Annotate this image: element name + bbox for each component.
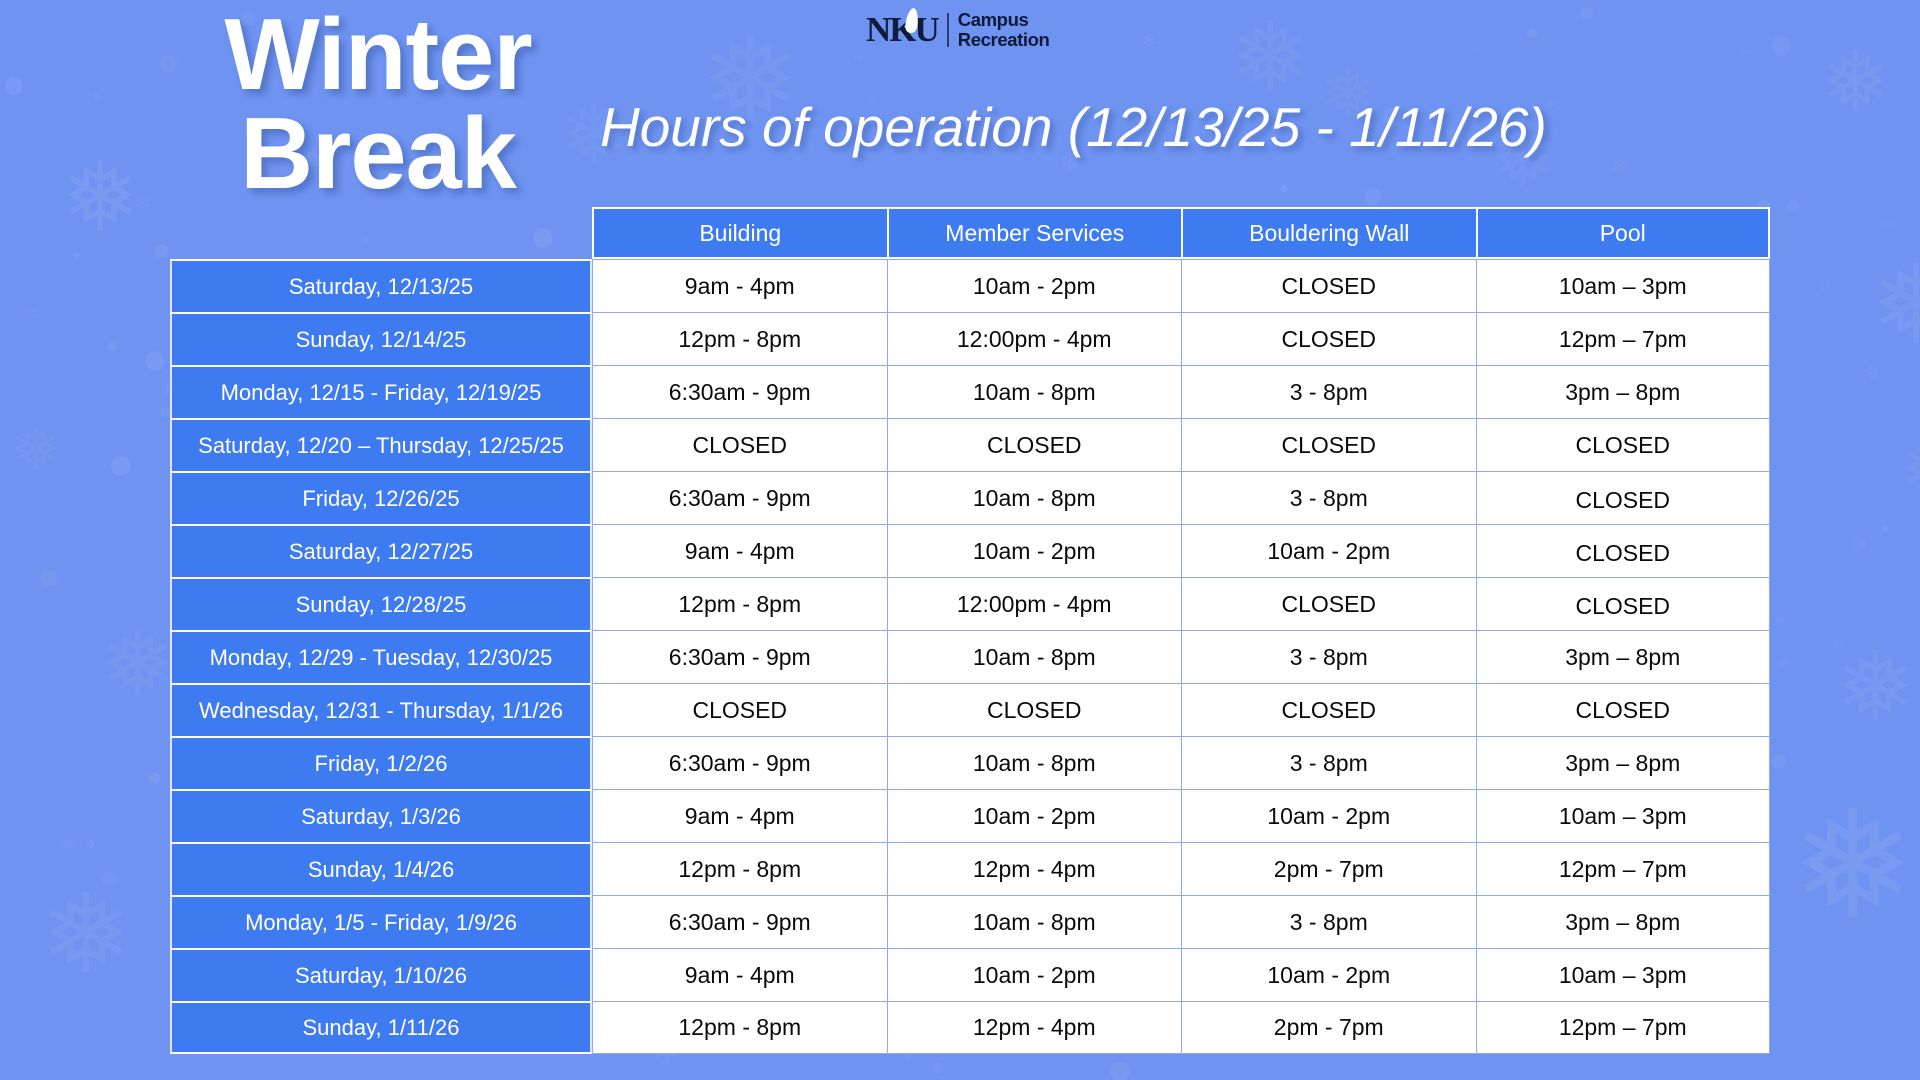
snow-dot-icon [145, 351, 165, 371]
hours-cell-building: 6:30am - 9pm [592, 895, 887, 948]
hours-cell-pool: 10am – 3pm [1476, 789, 1771, 842]
snowflake-icon: ❅ [1820, 40, 1890, 124]
hours-cell-building: 9am - 4pm [592, 948, 887, 1001]
snow-dot-icon [1827, 833, 1832, 838]
snow-dot-icon [1280, 185, 1287, 192]
date-range-cell: Monday, 12/29 - Tuesday, 12/30/25 [170, 630, 592, 683]
page-title: Winter Break [168, 6, 588, 204]
hours-cell-bouldering-wall: 2pm - 7pm [1181, 1001, 1476, 1054]
hours-cell-pool: 12pm – 7pm [1476, 312, 1771, 365]
brand-name: Campus Recreation [958, 10, 1050, 49]
nku-campus-recreation-logo: NKU Campus Recreation [866, 10, 1049, 50]
table-corner-cell [170, 207, 592, 259]
hours-cell-building: 9am - 4pm [592, 789, 887, 842]
snow-dot-icon [1771, 36, 1791, 56]
snowflake-icon: ❅ [1790, 790, 1916, 940]
hours-cell-building: 9am - 4pm [592, 259, 887, 312]
nku-letters: NKU [866, 10, 938, 49]
hours-cell-bouldering-wall: CLOSED [1181, 683, 1476, 736]
hours-cell-building: 9am - 4pm [592, 524, 887, 577]
date-range-cell: Sunday, 1/11/26 [170, 1001, 592, 1054]
date-range-cell: Saturday, 12/27/25 [170, 524, 592, 577]
hours-cell-member-services: 10am - 2pm [887, 948, 1182, 1001]
hours-cell-pool: 3pm – 8pm [1476, 365, 1771, 418]
hours-cell-bouldering-wall: 10am - 2pm [1181, 948, 1476, 1001]
date-range-cell: Monday, 12/15 - Friday, 12/19/25 [170, 365, 592, 418]
snow-dot-icon [40, 570, 56, 586]
snowflake-icon: ❄ [853, 53, 864, 66]
hours-cell-building: 12pm - 8pm [592, 577, 887, 630]
table-row: Monday, 1/5 - Friday, 1/9/266:30am - 9pm… [170, 895, 1770, 948]
hours-cell-bouldering-wall: CLOSED [1181, 577, 1476, 630]
logo-divider [947, 13, 949, 47]
snow-dot-icon [93, 93, 101, 101]
snow-dot-icon [1771, 755, 1785, 769]
hours-cell-member-services: 12:00pm - 4pm [887, 312, 1182, 365]
snowflake-icon: ❄ [1093, 6, 1103, 18]
snowflake-icon: ❅ [60, 150, 140, 246]
nku-wordmark: NKU [866, 10, 938, 50]
hours-cell-bouldering-wall: 3 - 8pm [1181, 630, 1476, 683]
snow-dot-icon [1787, 200, 1798, 211]
hours-cell-bouldering-wall: 3 - 8pm [1181, 365, 1476, 418]
hours-cell-pool: 10am – 3pm [1476, 948, 1771, 1001]
hours-cell-bouldering-wall: 10am - 2pm [1181, 524, 1476, 577]
date-range-cell: Sunday, 1/4/26 [170, 842, 592, 895]
snow-dot-icon [108, 342, 116, 350]
snow-dot-icon [149, 772, 160, 783]
hours-cell-bouldering-wall: CLOSED [1181, 418, 1476, 471]
snow-dot-icon [933, 1062, 945, 1074]
hours-cell-pool: CLOSED [1476, 577, 1771, 630]
table-row: Saturday, 1/10/269am - 4pm10am - 2pm10am… [170, 948, 1770, 1001]
snow-dot-icon [73, 252, 81, 260]
snowflake-icon: ❄ [1880, 216, 1896, 236]
table-row: Saturday, 12/13/259am - 4pm10am - 2pmCLO… [170, 259, 1770, 312]
snowflake-icon: ❅ [1870, 250, 1920, 360]
snowflake-icon: ❄ [1863, 365, 1879, 384]
snowflake-icon: ❄ [1254, 27, 1263, 37]
snowflake-icon: ❅ [10, 420, 60, 480]
hours-cell-bouldering-wall: 10am - 2pm [1181, 789, 1476, 842]
hours-cell-bouldering-wall: 3 - 8pm [1181, 471, 1476, 524]
hours-cell-building: 6:30am - 9pm [592, 630, 887, 683]
hours-cell-member-services: 12pm - 4pm [887, 842, 1182, 895]
snowflake-icon: ❄ [1141, 32, 1157, 51]
column-header-pool: Pool [1476, 207, 1771, 259]
brand-name-line-2: Recreation [958, 30, 1050, 50]
hours-cell-bouldering-wall: 2pm - 7pm [1181, 842, 1476, 895]
table-row: Sunday, 12/14/2512pm - 8pm12:00pm - 4pmC… [170, 312, 1770, 365]
hours-cell-member-services: 10am - 2pm [887, 259, 1182, 312]
snow-dot-icon [154, 244, 168, 258]
date-range-cell: Friday, 12/26/25 [170, 471, 592, 524]
hours-cell-member-services: 12pm - 4pm [887, 1001, 1182, 1054]
hours-cell-building: CLOSED [592, 683, 887, 736]
table-row: Saturday, 1/3/269am - 4pm10am - 2pm10am … [170, 789, 1770, 842]
hours-cell-member-services: 12:00pm - 4pm [887, 577, 1182, 630]
date-range-cell: Monday, 1/5 - Friday, 1/9/26 [170, 895, 592, 948]
table-row: Wednesday, 12/31 - Thursday, 1/1/26CLOSE… [170, 683, 1770, 736]
snowflake-icon: ❅ [1230, 10, 1310, 106]
snowflake-icon: ❄ [1819, 279, 1833, 296]
hours-cell-pool: 12pm – 7pm [1476, 842, 1771, 895]
hours-cell-building: 6:30am - 9pm [592, 736, 887, 789]
hours-cell-member-services: CLOSED [887, 683, 1182, 736]
hours-cell-building: 6:30am - 9pm [592, 471, 887, 524]
page-subtitle: Hours of operation (12/13/25 - 1/11/26) [600, 95, 1790, 159]
hours-cell-member-services: 10am - 2pm [887, 789, 1182, 842]
snow-dot-icon [1811, 857, 1827, 873]
snow-dot-icon [63, 839, 72, 848]
snowflake-icon: ❄ [1473, 45, 1482, 56]
column-header-member-services: Member Services [887, 207, 1182, 259]
hours-cell-member-services: 10am - 8pm [887, 895, 1182, 948]
hours-cell-member-services: 10am - 8pm [887, 736, 1182, 789]
snow-dot-icon [1364, 188, 1382, 206]
hours-schedule-table: BuildingMember ServicesBouldering WallPo… [170, 207, 1770, 1054]
snow-dot-icon [87, 840, 95, 848]
hours-cell-member-services: 10am - 8pm [887, 471, 1182, 524]
hours-cell-pool: CLOSED [1476, 471, 1771, 524]
hours-cell-bouldering-wall: CLOSED [1181, 259, 1476, 312]
snowflake-icon: ❄ [22, 305, 38, 325]
table-row: Monday, 12/29 - Tuesday, 12/30/256:30am … [170, 630, 1770, 683]
date-range-cell: Saturday, 1/10/26 [170, 948, 592, 1001]
snow-dot-icon [1580, 7, 1593, 20]
snow-dot-icon [1775, 617, 1785, 627]
brand-name-line-1: Campus [958, 10, 1050, 30]
hours-cell-pool: CLOSED [1476, 524, 1771, 577]
snow-dot-icon [1850, 536, 1866, 552]
hours-cell-pool: 3pm – 8pm [1476, 630, 1771, 683]
date-range-cell: Saturday, 12/20 – Thursday, 12/25/25 [170, 418, 592, 471]
snow-dot-icon [101, 871, 117, 887]
hours-cell-building: 12pm - 8pm [592, 842, 887, 895]
page-title-line-1: Winter [168, 6, 588, 105]
column-header-building: Building [592, 207, 887, 259]
table-row: Saturday, 12/20 – Thursday, 12/25/25CLOS… [170, 418, 1770, 471]
snowflake-icon: ❅ [40, 880, 132, 990]
table-row: Sunday, 12/28/2512pm - 8pm12:00pm - 4pmC… [170, 577, 1770, 630]
snowflake-icon: ❄ [1611, 157, 1628, 177]
page-title-line-2: Break [168, 105, 588, 204]
hours-cell-member-services: 10am - 8pm [887, 365, 1182, 418]
snow-dot-icon [111, 456, 131, 476]
hours-cell-building: 12pm - 8pm [592, 312, 887, 365]
snow-dot-icon [1110, 1062, 1130, 1080]
date-range-cell: Sunday, 12/28/25 [170, 577, 592, 630]
hours-cell-pool: CLOSED [1476, 418, 1771, 471]
snow-dot-icon [1740, 49, 1746, 55]
table-row: Saturday, 12/27/259am - 4pm10am - 2pm10a… [170, 524, 1770, 577]
hours-cell-bouldering-wall: CLOSED [1181, 312, 1476, 365]
table-row: Friday, 1/2/266:30am - 9pm10am - 8pm3 - … [170, 736, 1770, 789]
snow-dot-icon [1881, 525, 1889, 533]
hours-cell-member-services: 10am - 8pm [887, 630, 1182, 683]
hours-cell-pool: 10am – 3pm [1476, 259, 1771, 312]
hours-cell-member-services: 10am - 2pm [887, 524, 1182, 577]
hours-cell-pool: CLOSED [1476, 683, 1771, 736]
hours-cell-pool: 12pm – 7pm [1476, 1001, 1771, 1054]
snowflake-icon: ❄ [12, 416, 22, 428]
date-range-cell: Saturday, 12/13/25 [170, 259, 592, 312]
snowflake-icon: ❄ [1778, 655, 1792, 672]
snow-dot-icon [1527, 28, 1537, 38]
hours-cell-building: CLOSED [592, 418, 887, 471]
date-range-cell: Saturday, 1/3/26 [170, 789, 592, 842]
table-header-row: BuildingMember ServicesBouldering WallPo… [170, 207, 1770, 259]
date-range-cell: Sunday, 12/14/25 [170, 312, 592, 365]
table-row: Monday, 12/15 - Friday, 12/19/256:30am -… [170, 365, 1770, 418]
hours-cell-pool: 3pm – 8pm [1476, 895, 1771, 948]
date-range-cell: Friday, 1/2/26 [170, 736, 592, 789]
hours-cell-bouldering-wall: 3 - 8pm [1181, 895, 1476, 948]
table-row: Friday, 12/26/256:30am - 9pm10am - 8pm3 … [170, 471, 1770, 524]
hours-cell-bouldering-wall: 3 - 8pm [1181, 736, 1476, 789]
hours-cell-pool: 3pm – 8pm [1476, 736, 1771, 789]
hours-cell-building: 12pm - 8pm [592, 1001, 887, 1054]
snowflake-icon: ❅ [100, 620, 175, 710]
table-row: Sunday, 1/4/2612pm - 8pm12pm - 4pm2pm - … [170, 842, 1770, 895]
snowflake-icon: ❄ [134, 194, 151, 215]
column-header-bouldering-wall: Bouldering Wall [1181, 207, 1476, 259]
table-row: Sunday, 1/11/2612pm - 8pm12pm - 4pm2pm -… [170, 1001, 1770, 1054]
snowflake-icon: ❅ [1835, 640, 1915, 736]
hours-cell-building: 6:30am - 9pm [592, 365, 887, 418]
hours-cell-member-services: CLOSED [887, 418, 1182, 471]
snowflake-icon: ❅ [1900, 430, 1920, 510]
snow-dot-icon [5, 77, 23, 95]
snowflake-icon: ❄ [1831, 638, 1843, 652]
snow-dot-icon [160, 407, 169, 416]
date-range-cell: Wednesday, 12/31 - Thursday, 1/1/26 [170, 683, 592, 736]
